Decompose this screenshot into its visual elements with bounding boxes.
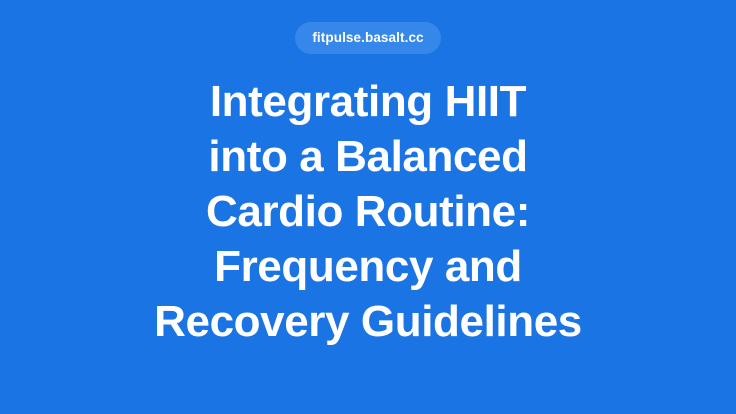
title-line-5: Recovery Guidelines (154, 294, 582, 349)
site-domain-badge[interactable]: fitpulse.basalt.cc (295, 22, 440, 54)
badge-row: fitpulse.basalt.cc (0, 22, 736, 54)
title-line-4: Frequency and (214, 239, 522, 294)
title-line-1: Integrating HIIT (210, 74, 526, 129)
title-line-3: Cardio Routine: (206, 184, 530, 239)
title-line-2: into a Balanced (208, 129, 527, 184)
page-title: Integrating HIIT into a Balanced Cardio … (38, 74, 698, 349)
social-share-card: fitpulse.basalt.cc Integrating HIIT into… (0, 0, 736, 414)
